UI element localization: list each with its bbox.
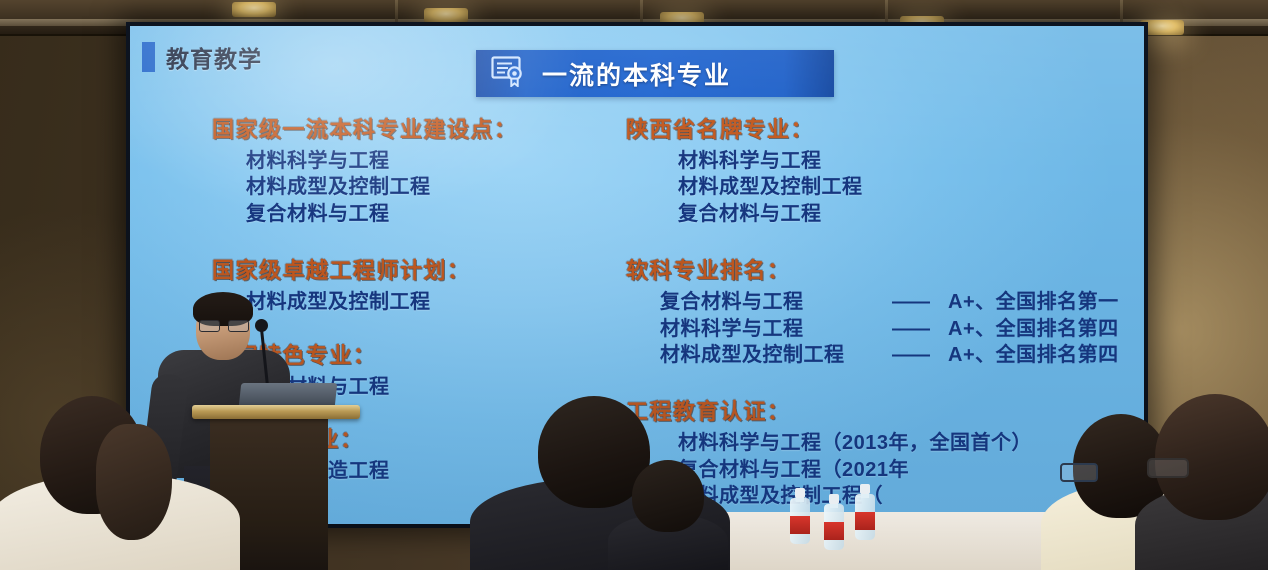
ranking-row: 复合材料与工程 —— A+、全国排名第一 (626, 289, 1136, 315)
audience-glasses (1147, 458, 1189, 478)
audience-member (608, 460, 728, 570)
audience-head (632, 460, 704, 532)
laptop (239, 383, 338, 407)
certificate-icon (490, 55, 526, 92)
block-item: 材料科学与工程 (212, 148, 632, 174)
water-bottle (790, 488, 810, 544)
section-accent-bar (142, 42, 155, 72)
ranking-row: 材料成型及控制工程 —— A+、全国排名第四 (626, 342, 1136, 368)
ranking-program: 材料成型及控制工程 (660, 342, 892, 368)
block-item: 复合材料与工程 (626, 201, 1136, 227)
slide-block: 软科专业排名： 复合材料与工程 —— A+、全国排名第一 材料科学与工程 —— … (626, 253, 1136, 368)
ceiling-spotlight (424, 8, 468, 23)
ranking-dash: —— (892, 342, 948, 368)
slide-title-text: 一流的本科专业 (542, 56, 731, 92)
ranking-dash: —— (892, 289, 948, 315)
microphone-icon (255, 319, 268, 332)
block-heading: 陕西省名牌专业： (626, 112, 1136, 144)
ranking-program: 复合材料与工程 (660, 289, 892, 315)
presenter-glasses (199, 320, 247, 330)
block-item: 材料成型及控制工程 (626, 174, 1136, 200)
water-bottle (824, 494, 844, 550)
presentation-photo-scene: 教育教学 一流的本科专业 (0, 0, 1268, 570)
audience-member (1155, 395, 1268, 570)
slide-title-banner: 一流的本科专业 (476, 50, 834, 97)
audience-hair (96, 424, 172, 540)
audience-member (0, 410, 230, 570)
block-item: 材料科学与工程 (626, 148, 1136, 174)
block-item: 材料成型及控制工程 (212, 174, 632, 200)
audience-glasses (1060, 463, 1098, 482)
ranking-value: A+、全国排名第四 (948, 342, 1119, 368)
block-item: 复合材料与工程 (212, 201, 632, 227)
ranking-dash: —— (892, 316, 948, 342)
block-heading: 国家级卓越工程师计划： (212, 253, 632, 285)
ceiling-spotlight (232, 2, 276, 17)
slide-block: 国家级一流本科专业建设点： 材料科学与工程 材料成型及控制工程 复合材料与工程 (212, 112, 632, 227)
slide-section-label: 教育教学 (142, 40, 262, 74)
section-label-text: 教育教学 (166, 40, 262, 74)
ranking-value: A+、全国排名第四 (948, 316, 1119, 342)
block-heading: 软科专业排名： (626, 253, 1136, 285)
ranking-row: 材料科学与工程 —— A+、全国排名第四 (626, 316, 1136, 342)
water-bottle (855, 484, 875, 540)
block-heading: 国家级一流本科专业建设点： (212, 112, 632, 144)
audience-head (1155, 394, 1268, 520)
ranking-value: A+、全国排名第一 (948, 289, 1119, 315)
slide-block: 陕西省名牌专业： 材料科学与工程 材料成型及控制工程 复合材料与工程 (626, 112, 1136, 227)
ranking-program: 材料科学与工程 (660, 316, 892, 342)
